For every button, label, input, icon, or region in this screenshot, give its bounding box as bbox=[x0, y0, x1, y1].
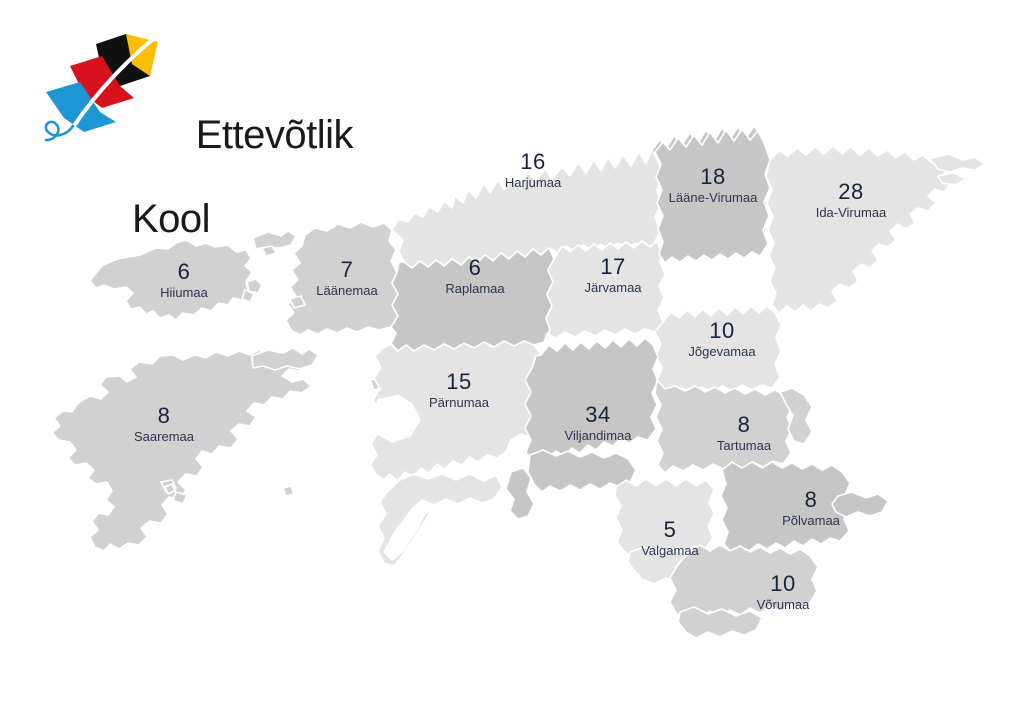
viljandimaa-peninsula bbox=[506, 468, 534, 519]
kite-tail bbox=[46, 122, 73, 140]
brand-name-line1: Ettevõtlik bbox=[196, 113, 353, 157]
county-jarvamaa[interactable] bbox=[544, 241, 665, 342]
county-ida-virumaa[interactable] bbox=[766, 146, 951, 313]
county-laane-virumaa-main[interactable] bbox=[655, 129, 770, 263]
polvamaa-east-cape bbox=[832, 492, 888, 517]
county-saaremaa[interactable] bbox=[52, 350, 311, 551]
county-viljandimaa[interactable] bbox=[525, 338, 658, 462]
county-tartumaa[interactable] bbox=[655, 380, 793, 473]
ida-virumaa-cape2 bbox=[938, 173, 966, 185]
parnumaa-lower-strip bbox=[378, 474, 502, 566]
islet-tiny-a bbox=[283, 486, 294, 496]
brand-name-line2: Kool bbox=[132, 198, 353, 240]
islet-abruka bbox=[165, 484, 175, 494]
brand-name: Ettevõtlik Kool bbox=[132, 72, 353, 324]
vorumaa-south-tail bbox=[678, 607, 762, 638]
ida-virumaa-cape bbox=[930, 154, 984, 172]
county-jogevamaa[interactable] bbox=[655, 306, 781, 394]
county-saaremaa-islet-2 bbox=[173, 492, 187, 504]
map-page: 16 Harjumaa 18 Lääne-Virumaa 28 Ida-Viru… bbox=[0, 0, 1024, 701]
brand-logo[interactable]: Ettevõtlik Kool bbox=[40, 14, 350, 144]
county-polvamaa[interactable] bbox=[721, 462, 850, 552]
